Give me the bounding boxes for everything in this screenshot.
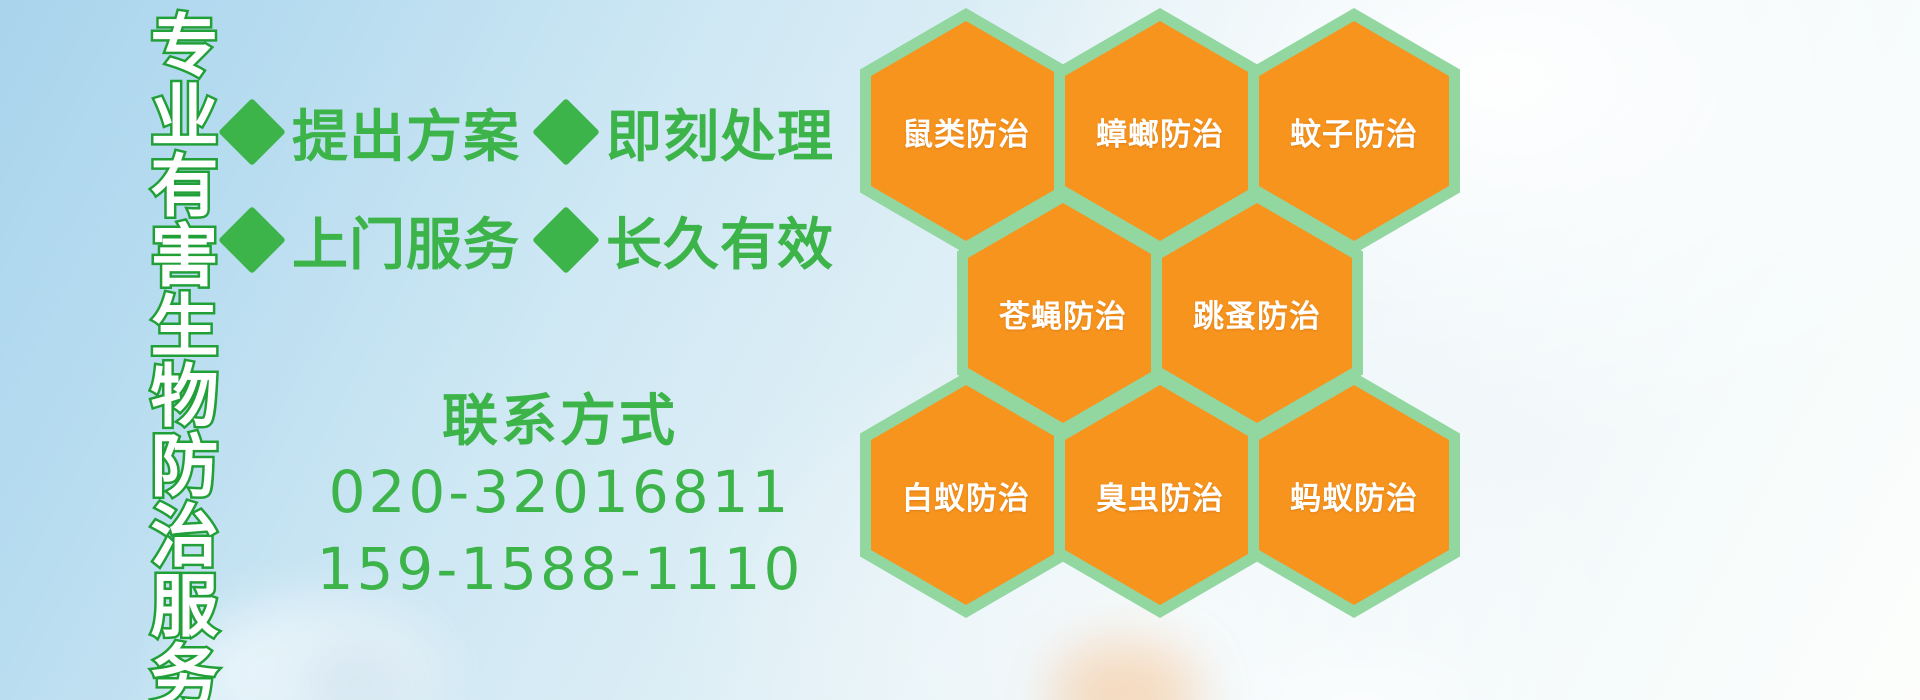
service-hexagon-grid: 鼠类防治 蟑螂防治 蚊子防治 苍蝇防治 跳蚤防治 白蚁防 bbox=[858, 0, 1458, 580]
service-label: 苍蝇防治 bbox=[999, 291, 1127, 336]
hexagon-fill: 白蚁防治 bbox=[871, 385, 1061, 605]
background-blur-shape bbox=[1050, 640, 1200, 700]
service-label: 鼠类防治 bbox=[902, 109, 1030, 154]
contact-block: 联系方式 020-32016811 159-1588-1110 bbox=[300, 390, 820, 607]
contact-phone-landline[interactable]: 020-32016811 bbox=[300, 454, 820, 531]
feature-list: 提出方案 即刻处理 上门服务 长久有效 bbox=[228, 78, 868, 294]
feature-item-long-lasting: 长久有效 bbox=[542, 200, 834, 281]
service-label: 白蚁防治 bbox=[902, 473, 1030, 518]
background-blur-shape bbox=[180, 600, 440, 700]
hexagon-fill: 臭虫防治 bbox=[1065, 385, 1255, 605]
feature-item-door-to-door-service: 上门服务 bbox=[228, 200, 520, 281]
vertical-headline: 专业有害生物防治服务 bbox=[108, 10, 212, 700]
service-label: 臭虫防治 bbox=[1096, 473, 1224, 518]
contact-title: 联系方式 bbox=[300, 390, 820, 454]
background-blur-shape bbox=[1250, 655, 1470, 700]
diamond-icon bbox=[532, 98, 600, 166]
service-label: 跳蚤防治 bbox=[1193, 291, 1321, 336]
feature-label: 长久有效 bbox=[606, 200, 834, 281]
contact-phone-mobile[interactable]: 159-1588-1110 bbox=[300, 531, 820, 608]
feature-label: 上门服务 bbox=[292, 200, 520, 281]
diamond-icon bbox=[532, 206, 600, 274]
service-label: 蚂蚁防治 bbox=[1290, 473, 1418, 518]
diamond-icon bbox=[218, 206, 286, 274]
feature-label: 提出方案 bbox=[292, 92, 520, 173]
background-blur-shape bbox=[300, 640, 420, 700]
feature-item-propose-plan: 提出方案 bbox=[228, 92, 520, 173]
feature-row: 上门服务 长久有效 bbox=[228, 186, 868, 294]
pest-control-banner: 专业有害生物防治服务 提出方案 即刻处理 上门服务 长久有效 联系方式 bbox=[0, 0, 1920, 700]
feature-item-immediate-handling: 即刻处理 bbox=[542, 92, 834, 173]
service-label: 蚊子防治 bbox=[1290, 109, 1418, 154]
diamond-icon bbox=[218, 98, 286, 166]
hexagon-fill: 蚂蚁防治 bbox=[1259, 385, 1449, 605]
service-label: 蟑螂防治 bbox=[1096, 109, 1224, 154]
feature-row: 提出方案 即刻处理 bbox=[228, 78, 868, 186]
feature-label: 即刻处理 bbox=[606, 92, 834, 173]
